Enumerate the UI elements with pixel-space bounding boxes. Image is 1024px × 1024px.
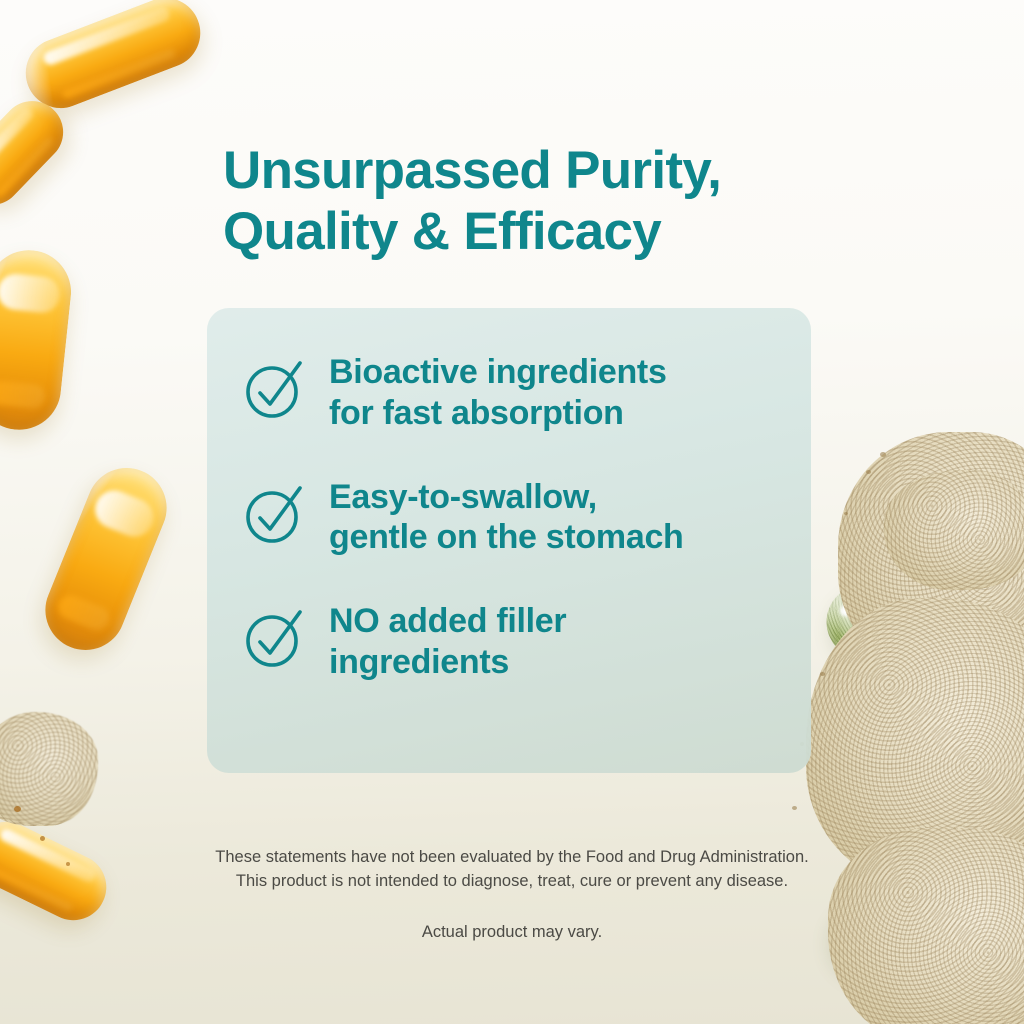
check-circle-icon: [243, 358, 305, 420]
powder-speck: [14, 806, 21, 812]
promo-image: Unsurpassed Purity, Quality & Efficacy B…: [0, 0, 1024, 1024]
benefits-list: Bioactive ingredients for fast absorptio…: [243, 352, 803, 683]
benefit-label: Bioactive ingredients for fast absorptio…: [329, 352, 667, 434]
powder-mound: [828, 828, 1024, 1024]
powder-speck: [792, 806, 797, 810]
softgel-capsule: [16, 0, 211, 118]
list-item: Bioactive ingredients for fast absorptio…: [243, 352, 803, 434]
page-title: Unsurpassed Purity, Quality & Efficacy: [223, 140, 843, 263]
softgel-capsule: [0, 88, 76, 217]
powder-speck: [880, 452, 886, 457]
list-item: Easy-to-swallow, gentle on the stomach: [243, 477, 803, 559]
powder-speck: [40, 836, 45, 841]
fda-disclaimer-text: These statements have not been evaluated…: [212, 845, 812, 894]
list-item: NO added filler ingredients: [243, 601, 803, 683]
powder-speck: [844, 512, 848, 515]
benefit-label: Easy-to-swallow, gentle on the stomach: [329, 477, 684, 559]
softgel-capsule: [0, 246, 75, 434]
product-variation-note: Actual product may vary.: [212, 920, 812, 944]
powder-speck: [66, 862, 70, 866]
powder-speck: [820, 672, 825, 676]
benefit-label: NO added filler ingredients: [329, 601, 566, 683]
powder-speck: [866, 470, 871, 474]
headline-line-1: Unsurpassed Purity,: [223, 141, 721, 200]
powder-mound: [884, 470, 1024, 590]
check-circle-icon: [243, 607, 305, 669]
headline-line-2: Quality & Efficacy: [223, 202, 661, 261]
disclaimer: These statements have not been evaluated…: [212, 845, 812, 944]
check-circle-icon: [243, 483, 305, 545]
